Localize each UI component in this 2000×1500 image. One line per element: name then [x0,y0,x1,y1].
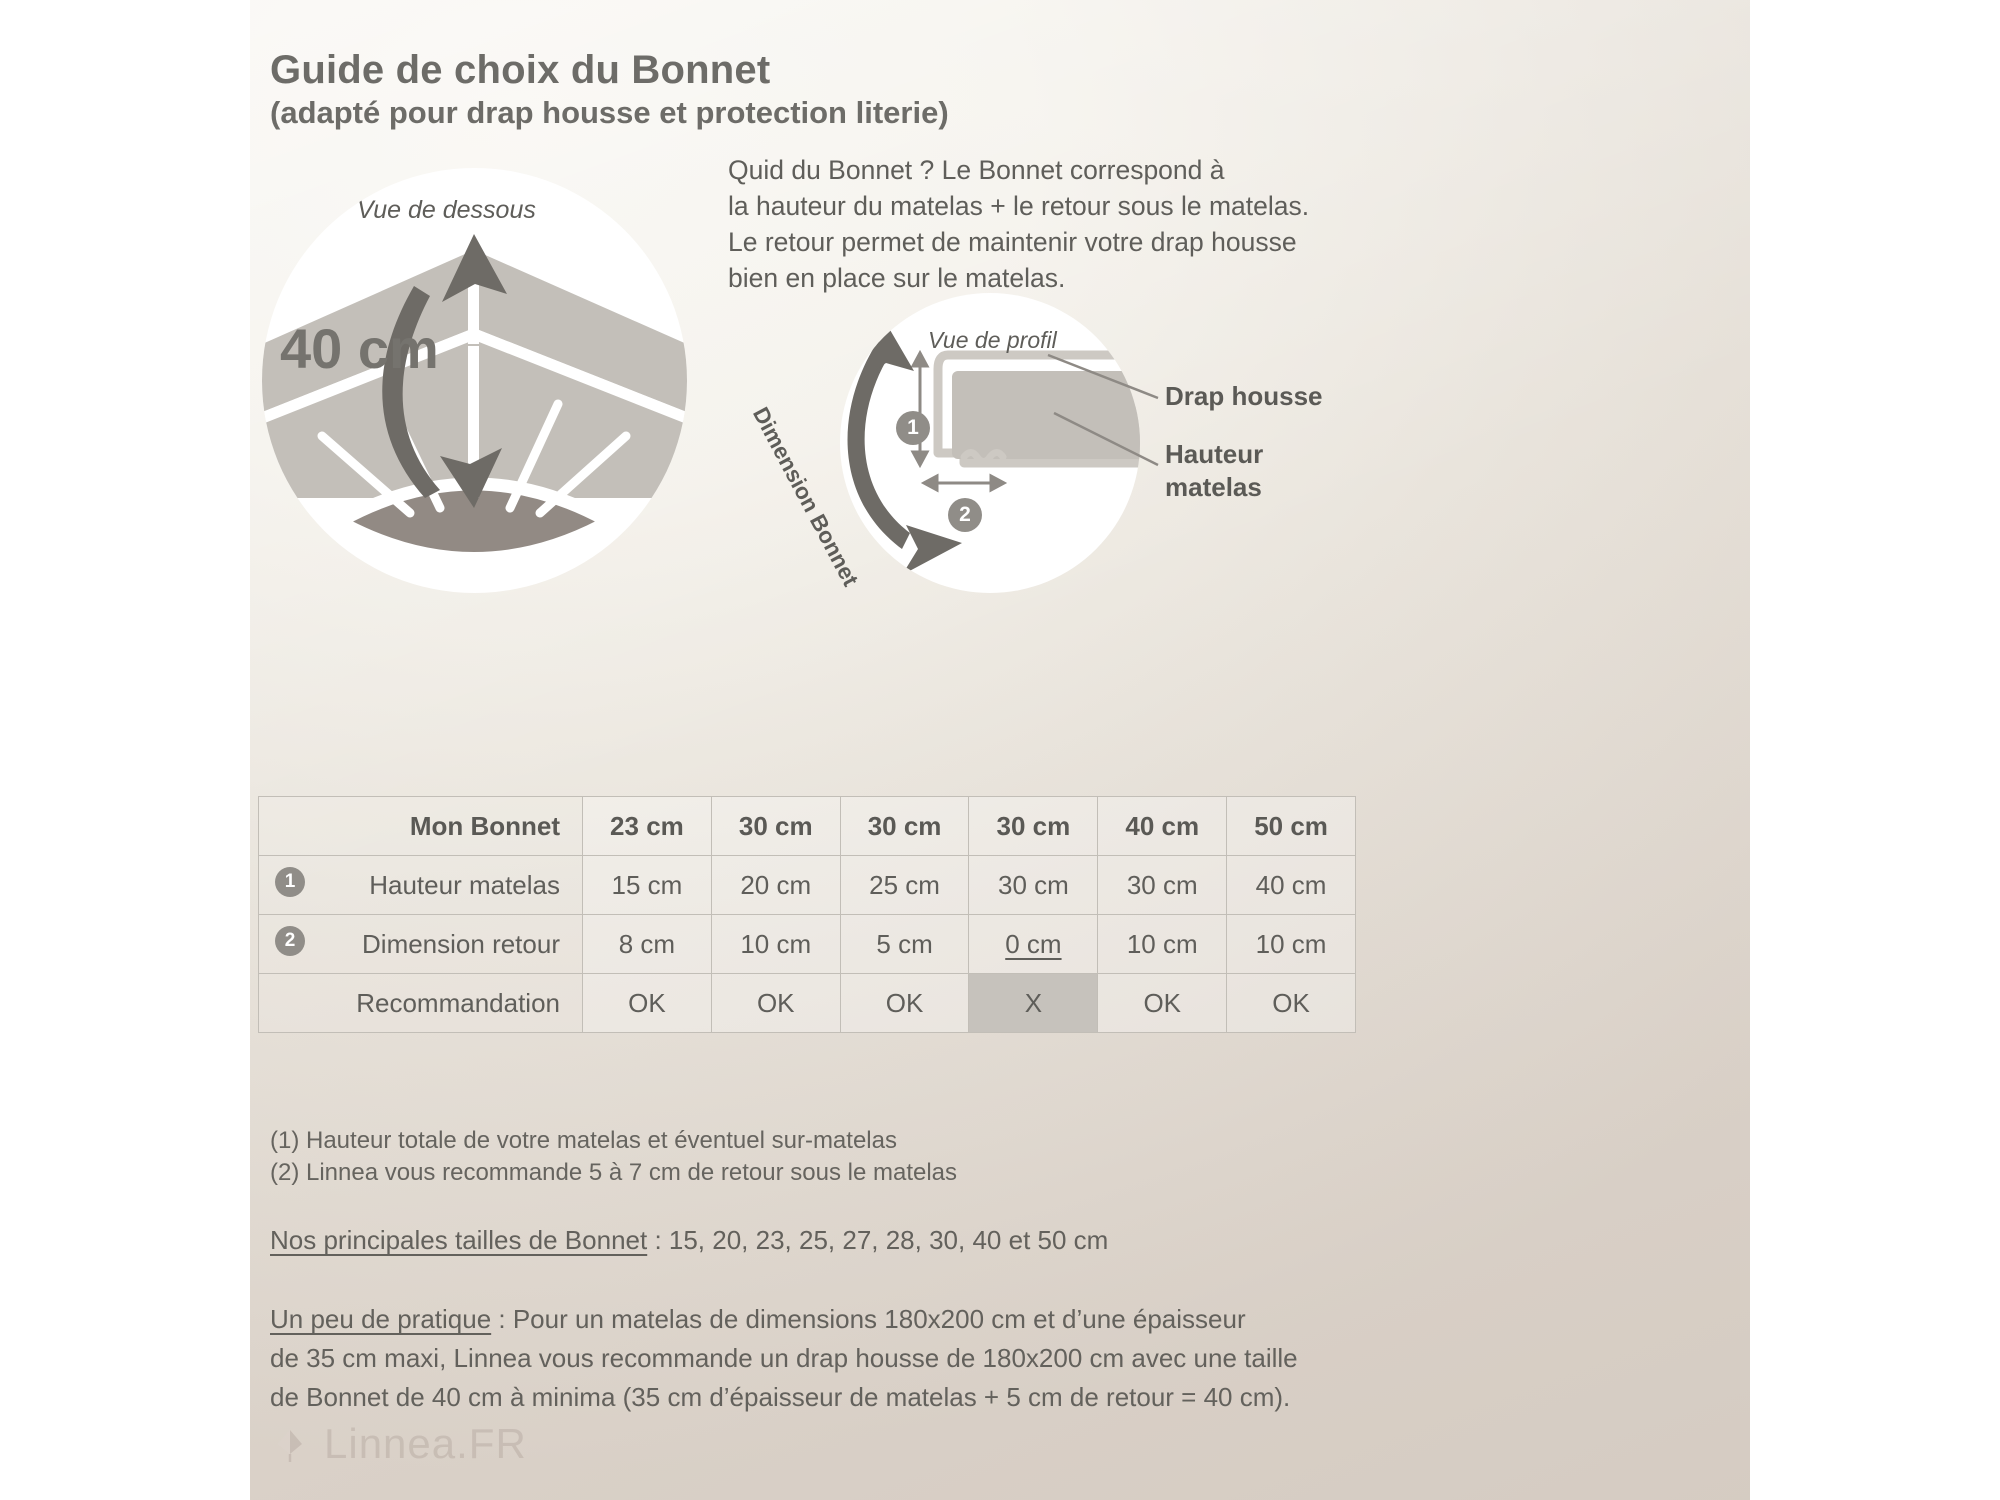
practical-line-1: Un peu de pratique : Pour un matelas de … [270,1300,1298,1339]
page-subtitle: (adapté pour drap housse et protection l… [270,95,949,131]
diagram-bottom-view: Vue de dessous 40 cm [262,168,687,593]
leaf-diamond-icon [270,1424,310,1464]
callout-hauteur-line-1: Hauteur [1165,438,1263,471]
table-cell-underlined: 0 cm [1005,929,1061,959]
table-cell: 30 cm [969,856,1098,915]
practical-label: Un peu de pratique [270,1304,491,1334]
practical-line-1-rest: : Pour un matelas de dimensions 180x200 … [491,1304,1245,1334]
table-header-row: Mon Bonnet23 cm30 cm30 cm30 cm40 cm50 cm [259,797,1356,856]
callout-hauteur-matelas: Hauteur matelas [1165,438,1263,504]
sizes-label: Nos principales tailles de Bonnet [270,1225,647,1255]
table-cell: OK [711,974,840,1033]
intro-paragraph: Quid du Bonnet ? Le Bonnet correspond à … [728,152,1348,296]
intro-line-2: la hauteur du matelas + le retour sous l… [728,188,1348,224]
bonnet-comparison-table: Mon Bonnet23 cm30 cm30 cm30 cm40 cm50 cm… [258,796,1356,1033]
table-header-cell: 30 cm [840,797,969,856]
table-cell: 8 cm [583,915,712,974]
table-header-cell: 30 cm [969,797,1098,856]
table-cell: 20 cm [711,856,840,915]
table-cell: 0 cm [969,915,1098,974]
footnote-2: (2) Linnea vous recommande 5 à 7 cm de r… [270,1157,957,1189]
bottom-view-label: Vue de dessous [357,196,536,225]
table-cell: 25 cm [840,856,969,915]
badge-1-table: 1 [275,867,305,897]
table-cell: 30 cm [1098,856,1227,915]
table-cell: 10 cm [711,915,840,974]
logo-text: Linnea.FR [324,1420,527,1468]
table-row: 1Hauteur matelas15 cm20 cm25 cm30 cm30 c… [259,856,1356,915]
table-row-label: 2Dimension retour [259,915,583,974]
table-cell: X [969,974,1098,1033]
table-header-cell: 40 cm [1098,797,1227,856]
table-cell: 15 cm [583,856,712,915]
linnea-logo: Linnea.FR [270,1420,527,1468]
table-cell: 40 cm [1227,856,1356,915]
table-cell: OK [1098,974,1227,1033]
table-cell: OK [840,974,969,1033]
table-header-label: Mon Bonnet [259,797,583,856]
practical-line-2: de 35 cm maxi, Linnea vous recommande un… [270,1339,1298,1378]
infographic-canvas: Guide de choix du Bonnet (adapté pour dr… [0,0,2000,1500]
table-cell: OK [1227,974,1356,1033]
intro-line-4: bien en place sur le matelas. [728,260,1348,296]
practical-paragraph: Un peu de pratique : Pour un matelas de … [270,1300,1298,1417]
sizes-line: Nos principales tailles de Bonnet : 15, … [270,1225,1108,1256]
footnotes: (1) Hauteur totale de votre matelas et é… [270,1125,957,1189]
badge-2-profile: 2 [948,498,982,532]
table-cell: 10 cm [1227,915,1356,974]
table-row-label: 1Hauteur matelas [259,856,583,915]
callout-hauteur-line-2: matelas [1165,471,1263,504]
table-row: 2Dimension retour8 cm10 cm5 cm0 cm10 cm1… [259,915,1356,974]
table-cell: 10 cm [1098,915,1227,974]
profile-view-label: Vue de profil [928,327,1057,354]
page-title: Guide de choix du Bonnet [270,48,770,93]
table-cell: 5 cm [840,915,969,974]
practical-line-3: de Bonnet de 40 cm à minima (35 cm d’épa… [270,1378,1298,1417]
intro-line-3: Le retour permet de maintenir votre drap… [728,224,1348,260]
table-cell: OK [583,974,712,1033]
table-row: RecommandationOKOKOKXOKOK [259,974,1356,1033]
callout-drap-housse: Drap housse [1165,381,1323,412]
table-row-label: Recommandation [259,974,583,1033]
badge-1-profile: 1 [896,411,930,445]
table-header-cell: 50 cm [1227,797,1356,856]
badge-2-table: 2 [275,926,305,956]
footnote-1: (1) Hauteur totale de votre matelas et é… [270,1125,957,1157]
table-header-cell: 30 cm [711,797,840,856]
table-header-cell: 23 cm [583,797,712,856]
intro-line-1: Quid du Bonnet ? Le Bonnet correspond à [728,152,1348,188]
bonnet-measure-label: 40 cm [280,316,439,381]
sizes-values: : 15, 20, 23, 25, 27, 28, 30, 40 et 50 c… [647,1225,1108,1255]
diagram-profile-view: Vue de profil Dimension Bonnet Drap hous… [840,293,1140,593]
